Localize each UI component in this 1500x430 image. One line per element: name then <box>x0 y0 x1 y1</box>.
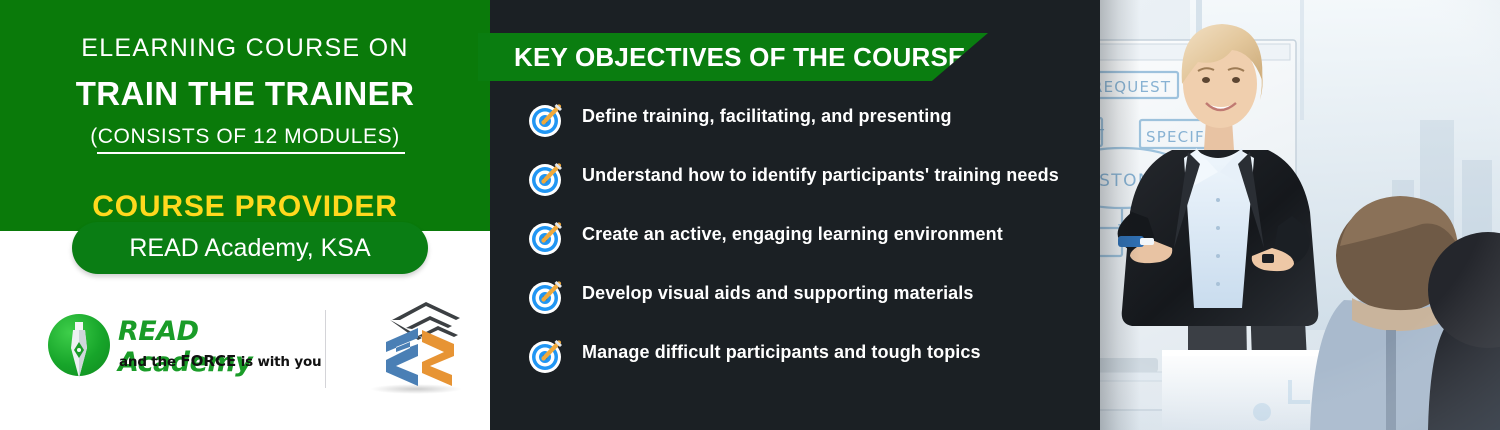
pen-nib-icon <box>72 322 86 368</box>
read-academy-tagline: and the FORCE is with you <box>119 352 321 370</box>
logo-strip: READ Academy and the FORCE is with you <box>0 290 490 420</box>
logo-divider <box>325 310 326 388</box>
read-academy-logo: READ Academy and the FORCE is with you <box>48 304 288 386</box>
objectives-list: Define training, facilitating, and prese… <box>528 96 1098 391</box>
objective-text: Define training, facilitating, and prese… <box>582 96 952 136</box>
objective-text: Understand how to identify participants'… <box>582 155 1059 195</box>
objective-text: Create an active, engaging learning envi… <box>582 214 1003 254</box>
target-with-arrow-icon <box>528 100 566 138</box>
target-with-arrow-icon <box>528 218 566 256</box>
objective-item: Create an active, engaging learning envi… <box>528 214 1098 273</box>
objectives-heading: KEY OBJECTIVES OF THE COURSE: <box>514 33 974 81</box>
objective-item: Understand how to identify participants'… <box>528 155 1098 214</box>
objective-item: Define training, facilitating, and prese… <box>528 96 1098 155</box>
course-info-panel: ELEARNING COURSE ON TRAIN THE TRAINER (C… <box>0 0 490 231</box>
objective-text: Manage difficult participants and tough … <box>582 332 981 372</box>
objectives-heading-ribbon: KEY OBJECTIVES OF THE COURSE: <box>478 33 988 81</box>
course-modules-note: (CONSISTS OF 12 MODULES) <box>0 125 490 149</box>
provider-name: READ Academy, KSA <box>72 222 428 274</box>
s2e-logo <box>360 298 470 398</box>
target-with-arrow-icon <box>528 277 566 315</box>
objective-item: Develop visual aids and supporting mater… <box>528 273 1098 332</box>
course-promo-banner: REQUEST SUPPORT SPECIFIC CUSTOMER D <box>0 0 1500 430</box>
target-with-arrow-icon <box>528 336 566 374</box>
course-kicker: ELEARNING COURSE ON <box>0 34 490 63</box>
course-title: TRAIN THE TRAINER <box>0 75 490 113</box>
modules-underline <box>97 152 405 154</box>
objective-text: Develop visual aids and supporting mater… <box>582 273 974 313</box>
course-provider-label: COURSE PROVIDER <box>0 190 490 224</box>
target-with-arrow-icon <box>528 159 566 197</box>
provider-name-pill: READ Academy, KSA <box>72 222 428 274</box>
objective-item: Manage difficult participants and tough … <box>528 332 1098 391</box>
